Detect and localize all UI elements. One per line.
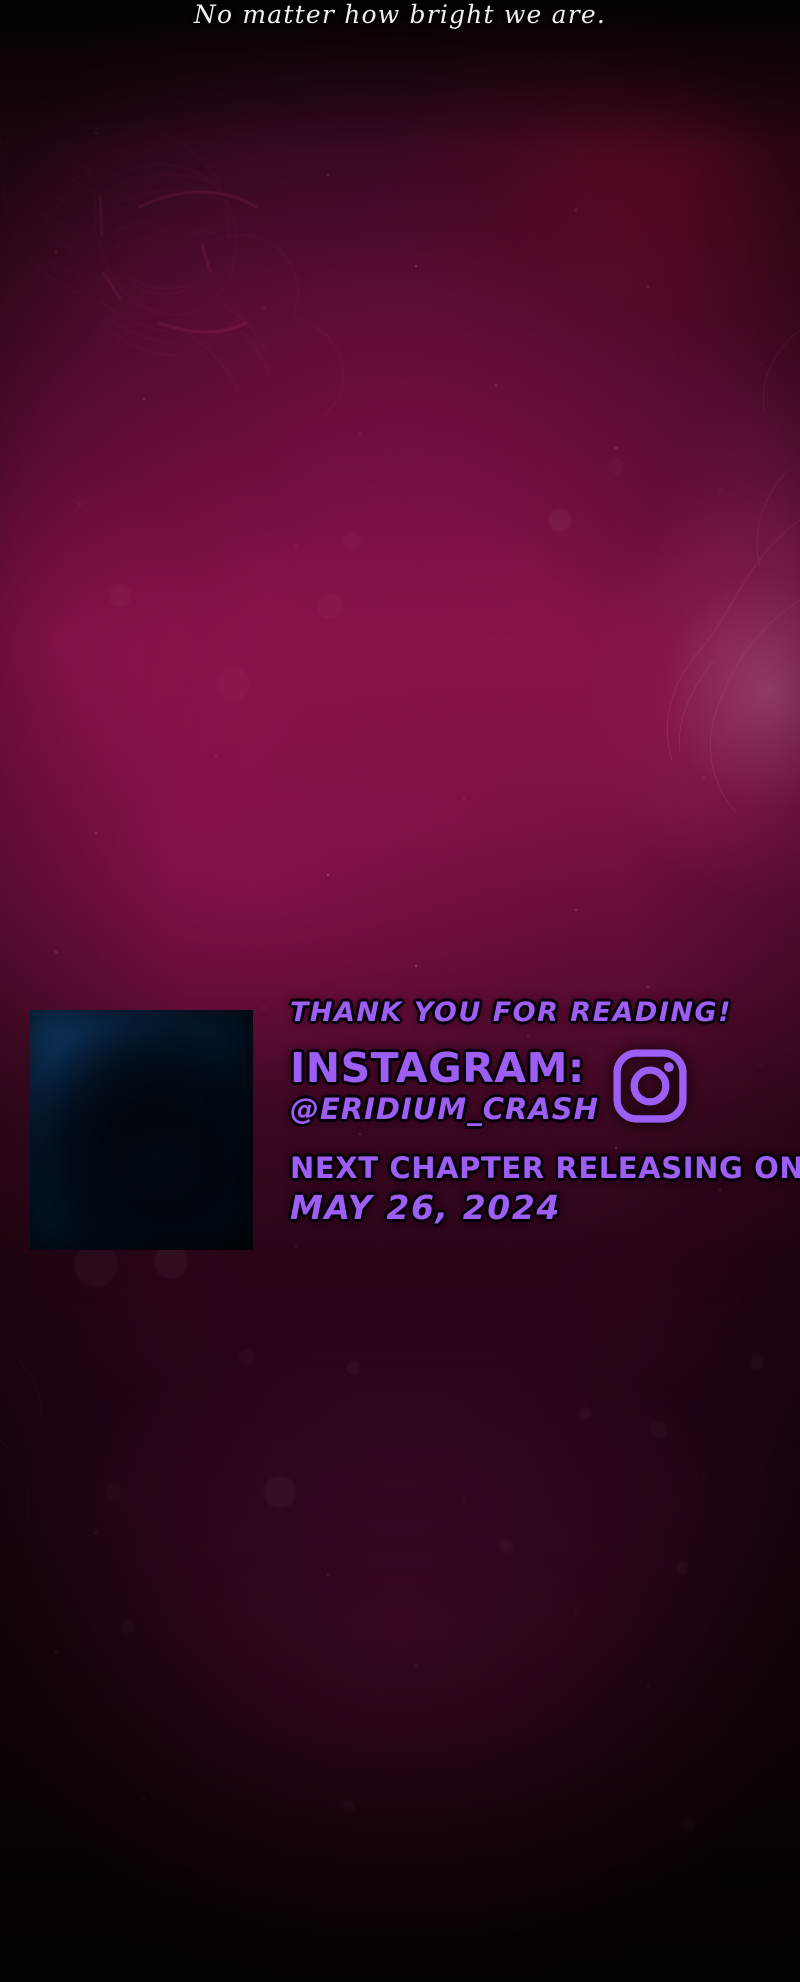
- bokeh-orb: [750, 1356, 764, 1370]
- background-bottom-shade: [0, 0, 800, 1982]
- bokeh-orb: [343, 1800, 355, 1812]
- instagram-icon[interactable]: [611, 1047, 689, 1125]
- art-panel-shading: [30, 1010, 253, 1250]
- thank-you-text: THANK YOU FOR READING!: [290, 996, 800, 1030]
- bokeh-orb: [239, 1349, 255, 1365]
- background-right-glow: [0, 0, 800, 1982]
- bokeh-orb: [608, 458, 624, 474]
- bokeh-orb: [216, 667, 250, 701]
- nebula-filaments: [0, 0, 800, 1982]
- background-mid-glow: [0, 0, 800, 1982]
- bokeh-orb: [343, 532, 361, 550]
- top-caption: No matter how bright we are.: [0, 0, 800, 30]
- background-base-gradient: [0, 0, 800, 1982]
- bokeh-orb: [579, 1407, 591, 1419]
- bokeh-orb: [154, 1245, 188, 1279]
- instagram-row[interactable]: INSTAGRAM: @ERIDIUM_CRASH: [290, 1046, 800, 1126]
- background-dust-texture: [0, 80, 800, 940]
- next-chapter-label: NEXT CHAPTER RELEASING ON: [290, 1150, 800, 1186]
- bokeh-orb: [677, 1562, 689, 1574]
- background-top-shade: [0, 0, 800, 1982]
- next-chapter-date: MAY 26, 2024: [290, 1188, 800, 1228]
- dark-blue-art-panel: [30, 1010, 253, 1250]
- bokeh-orb-layer: [0, 0, 800, 1982]
- bokeh-orb: [650, 1421, 668, 1439]
- bokeh-orb: [121, 1620, 135, 1634]
- instagram-handle[interactable]: @ERIDIUM_CRASH: [290, 1092, 599, 1126]
- bokeh-orb: [264, 1476, 296, 1508]
- faint-character-lineart: [0, 95, 400, 425]
- episode-end-card: No matter how bright we are. THANK YOU F…: [0, 0, 800, 1982]
- credits-block: THANK YOU FOR READING! INSTAGRAM: @ERIDI…: [290, 996, 800, 1228]
- bokeh-orb: [499, 1539, 513, 1553]
- background-vignette: [0, 0, 800, 1982]
- bokeh-orb: [105, 1484, 121, 1500]
- background-star-speckles: [0, 0, 800, 1982]
- bokeh-orb: [109, 585, 131, 607]
- instagram-text-column: INSTAGRAM: @ERIDIUM_CRASH: [290, 1046, 599, 1126]
- bokeh-orb: [346, 1361, 360, 1375]
- background-left-glow: [0, 0, 800, 1982]
- bokeh-orb: [317, 593, 343, 619]
- background-topright-glow: [0, 0, 800, 1982]
- bokeh-orb: [680, 1816, 696, 1832]
- bokeh-orb: [548, 508, 572, 532]
- instagram-label: INSTAGRAM:: [290, 1046, 599, 1090]
